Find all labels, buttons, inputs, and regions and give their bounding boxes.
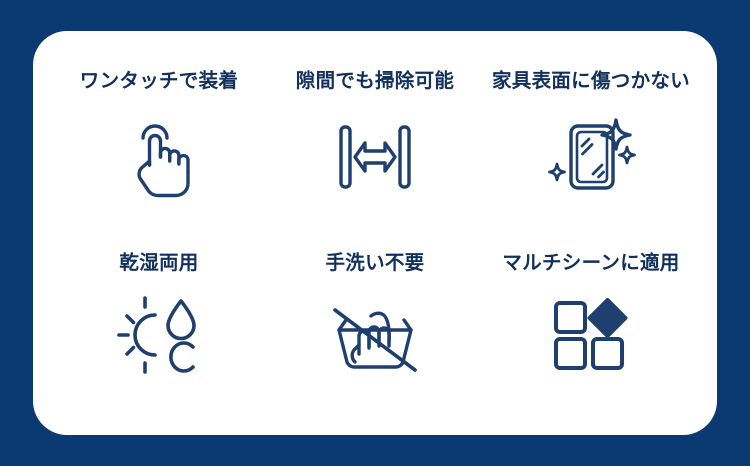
multi-scene-squares-icon [543,292,639,378]
feature-cell-no-hand-wash: 手洗い不要 [267,235,483,417]
promo-banner: ワンタッチで装着 隙間でも掃 [0,0,750,466]
feature-cell-one-touch: ワンタッチで装着 [51,53,267,235]
feature-label: 手洗い不要 [325,253,424,274]
scratch-free-shine-panel-icon [543,114,639,200]
feature-card: ワンタッチで装着 隙間でも掃 [33,31,717,435]
one-touch-tap-hand-icon [111,114,207,200]
feature-cell-scratch-free: 家具表面に傷つかない [483,53,699,235]
feature-label: ワンタッチで装着 [80,71,238,92]
feature-cell-wet-dry: 乾湿両用 [51,235,267,417]
sun-and-water-drop-icon [111,292,207,378]
no-hand-wash-icon [327,292,423,378]
feature-label: 家具表面に傷つかない [492,71,690,92]
feature-label: 隙間でも掃除可能 [296,71,454,92]
feature-cell-gap-cleaning: 隙間でも掃除可能 [267,53,483,235]
gap-width-arrow-icon [327,114,423,200]
feature-label: 乾湿両用 [119,253,198,274]
feature-cell-multi-scene: マルチシーンに適用 [483,235,699,417]
feature-label: マルチシーンに適用 [502,253,679,274]
